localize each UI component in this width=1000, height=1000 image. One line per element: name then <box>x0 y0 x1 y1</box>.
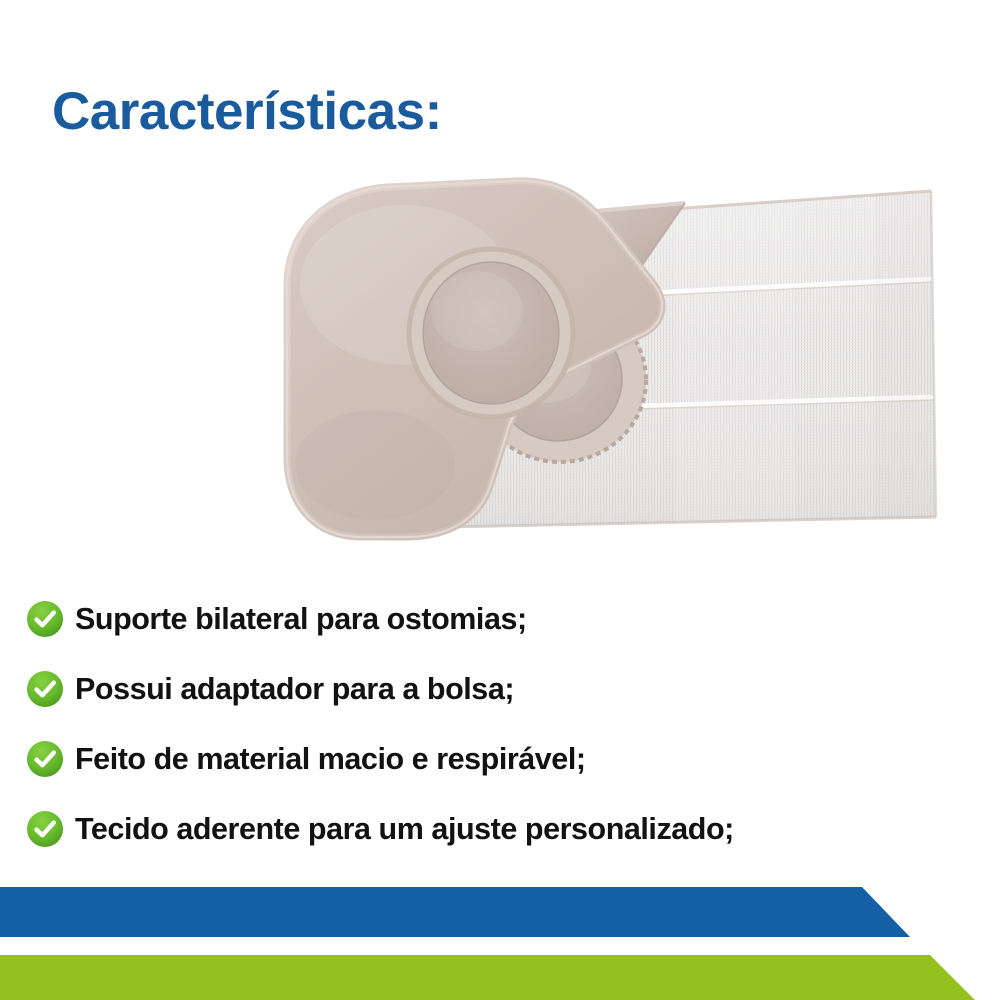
feature-label: Tecido aderente para um ajuste personali… <box>75 814 734 845</box>
list-item: Possui adaptador para a bolsa; <box>26 654 986 724</box>
footer-blue-bar <box>0 887 910 937</box>
list-item: Tecido aderente para um ajuste personali… <box>26 794 986 864</box>
footer-green-bar <box>0 955 1000 1000</box>
page-root: Características: <box>0 0 1000 1000</box>
list-item: Suporte bilateral para ostomias; <box>26 584 986 654</box>
stoma-opening-primary <box>409 249 573 417</box>
check-circle-icon <box>26 810 64 848</box>
feature-list: Suporte bilateral para ostomias; Possui … <box>26 584 986 864</box>
page-title: Características: <box>52 84 442 140</box>
ostomy-support-belt-photo <box>255 165 955 545</box>
feature-label: Suporte bilateral para ostomias; <box>75 604 527 635</box>
feature-label: Feito de material macio e respirável; <box>75 744 586 775</box>
check-circle-icon <box>26 670 64 708</box>
footer-decoration <box>0 875 1000 1000</box>
check-circle-icon <box>26 740 64 778</box>
product-image <box>255 165 955 545</box>
feature-label: Possui adaptador para a bolsa; <box>75 674 514 705</box>
list-item: Feito de material macio e respirável; <box>26 724 986 794</box>
check-circle-icon <box>26 600 64 638</box>
